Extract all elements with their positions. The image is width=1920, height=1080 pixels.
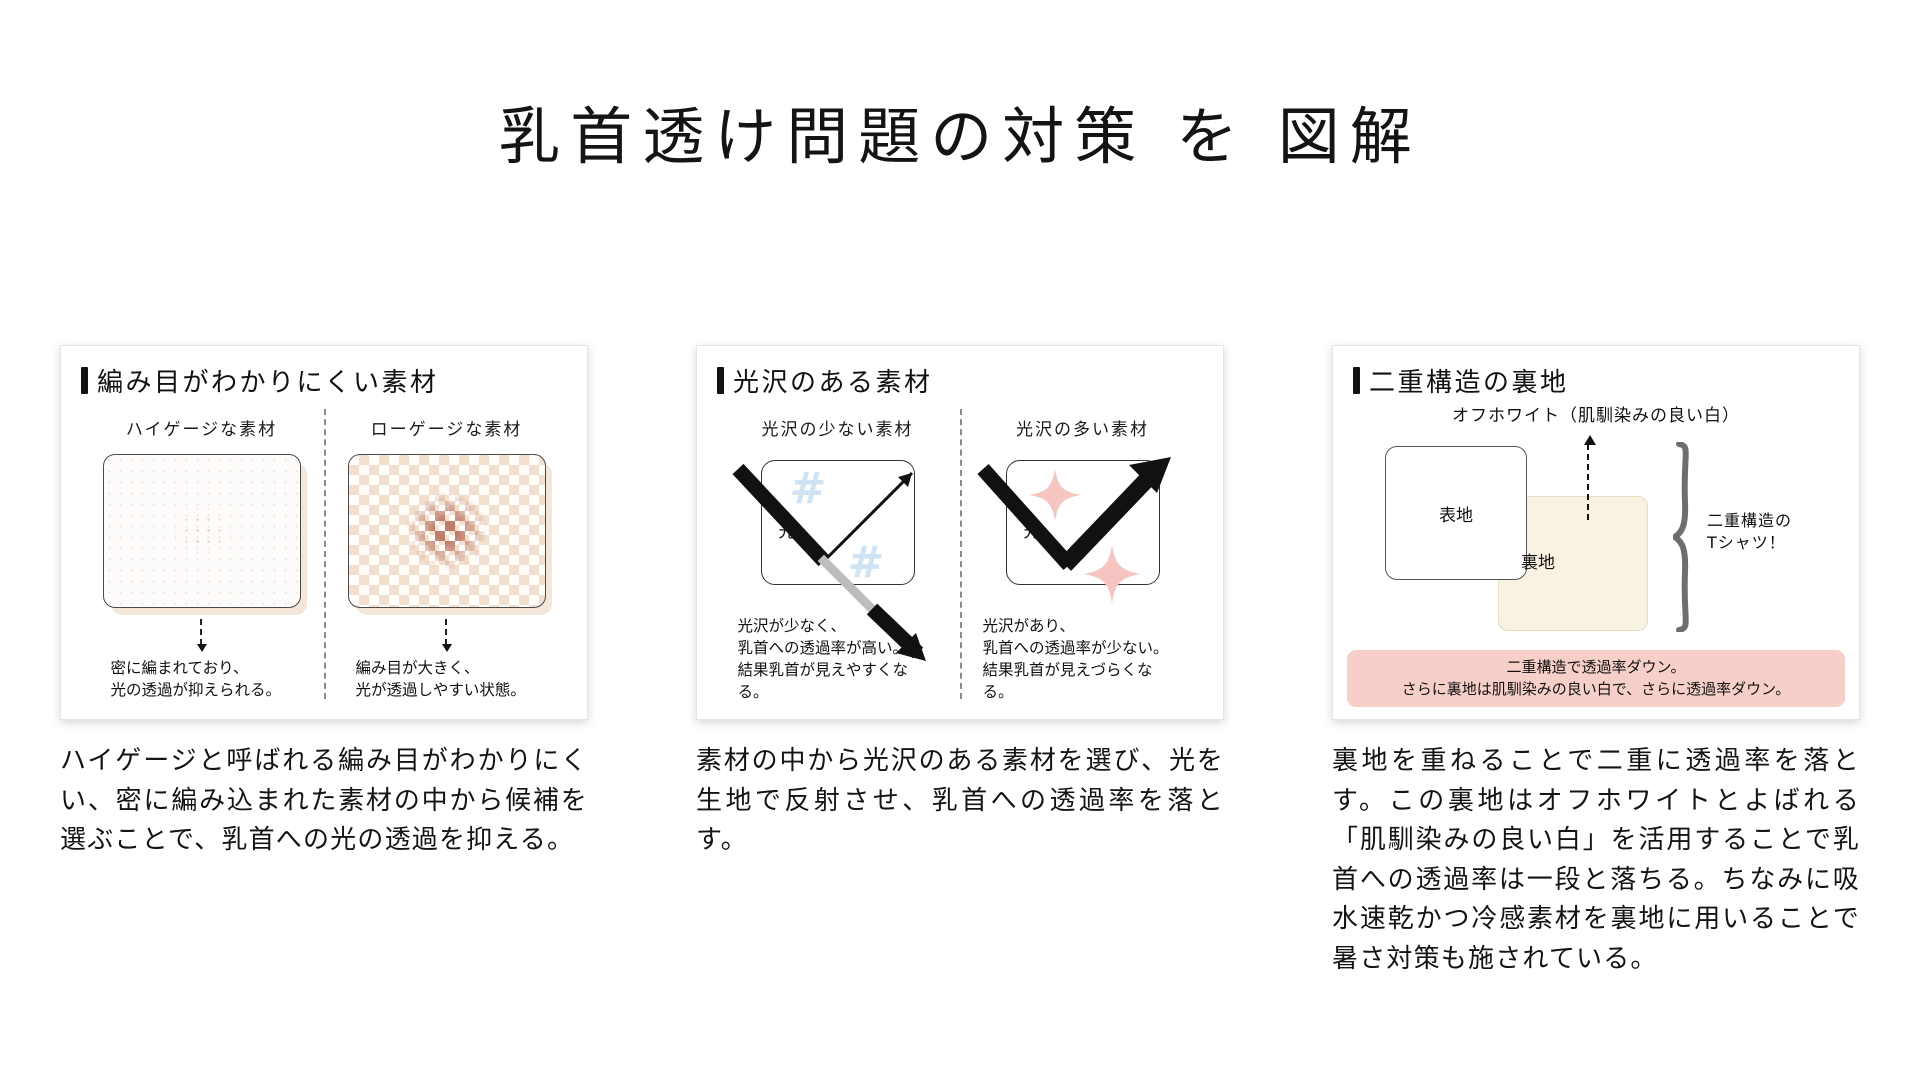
heading-bar-icon [81, 367, 88, 394]
panel-high-gauge: ハイゲージな素材 密に編まれており、 光の透過が抑えられる。 [79, 403, 324, 703]
card-knit: 編み目がわかりにくい素材 ハイゲージな素材 密に編まれており、 光の透過が抑えら… [60, 345, 588, 720]
low-gauge-fabric-swatch [348, 454, 546, 608]
card-double-layer-header: 二重構造の裏地 [1353, 362, 1841, 399]
inner-fabric-label: 裏地 [1521, 548, 1555, 573]
panel-low-gloss-title: 光沢の少ない素材 [762, 415, 914, 440]
low-gauge-swatch-wrap [348, 454, 546, 608]
nipple-show-through-blob [170, 503, 234, 559]
high-gauge-fabric-swatch [103, 454, 301, 608]
cards-container: 編み目がわかりにくい素材 ハイゲージな素材 密に編まれており、 光の透過が抑えら… [0, 345, 1920, 1045]
body-text-double-layer: 裏地を重ねることで二重に透過率を落とす。この裏地はオフホワイトとよばれる「肌馴染… [1332, 742, 1860, 979]
transmission-down-note: 二重構造で透過率ダウン。 さらに裏地は肌馴染みの良い白で、さらに透過率ダウン。 [1347, 650, 1845, 707]
light-ray-diagram-low-gloss [716, 439, 966, 665]
high-gloss-fabric-box: 光 [1006, 460, 1160, 585]
card-double-layer: 二重構造の裏地 オフホワイト（肌馴染みの良い白） 表地 裏地 二重構造の Tシャ… [1332, 345, 1860, 720]
card-double-layer-heading: 二重構造の裏地 [1369, 362, 1569, 399]
up-arrow-icon [1587, 444, 1589, 520]
body-text-gloss: 素材の中から光沢のある素材を選び、光を生地で反射させ、乳首への透過率を落とす。 [696, 742, 1224, 861]
light-ray-diagram-high-gloss [961, 439, 1211, 665]
card-gloss-header: 光沢のある素材 [717, 362, 1205, 399]
outer-fabric-box: 表地 [1385, 446, 1527, 580]
card-knit-heading: 編み目がわかりにくい素材 [97, 362, 438, 399]
card-gloss-split: 光沢の少ない素材 # # 光 [715, 403, 1205, 703]
column-gloss: 光沢のある素材 光沢の少ない素材 # # 光 [696, 345, 1224, 1045]
page-title: 乳首透け問題の対策 を 図解 [0, 86, 1920, 176]
card-knit-split: ハイゲージな素材 密に編まれており、 光の透過が抑えられる。 ローゲージな素材 [79, 403, 569, 703]
panel-low-gauge: ローゲージな素材 編み目が大きく、 光が透過しやすい状態。 [324, 403, 569, 703]
panel-low-gauge-caption: 編み目が大きく、 光が透過しやすい状態。 [356, 657, 538, 701]
double-layer-tshirt-label: 二重構造の Tシャツ！ [1707, 510, 1792, 555]
body-text-knit: ハイゲージと呼ばれる編み目がわかりにくい、密に編み込まれた素材の中から候補を選ぶ… [60, 742, 588, 861]
heading-bar-icon [717, 367, 724, 394]
card-gloss: 光沢のある素材 光沢の少ない素材 # # 光 [696, 345, 1224, 720]
low-gloss-fabric-box: # # 光 [761, 460, 915, 585]
card-gloss-heading: 光沢のある素材 [733, 362, 933, 399]
off-white-subtitle: オフホワイト（肌馴染みの良い白） [1351, 401, 1841, 426]
panel-high-gloss: 光沢の多い素材 光 [960, 403, 1205, 703]
curly-brace-icon [1673, 442, 1707, 632]
column-knit: 編み目がわかりにくい素材 ハイゲージな素材 密に編まれており、 光の透過が抑えら… [60, 345, 588, 1045]
panel-high-gloss-title: 光沢の多い素材 [1016, 415, 1149, 440]
layer-diagram: 表地 裏地 二重構造の Tシャツ！ [1351, 430, 1841, 680]
column-double-layer: 二重構造の裏地 オフホワイト（肌馴染みの良い白） 表地 裏地 二重構造の Tシャ… [1332, 345, 1860, 1045]
heading-bar-icon [1353, 367, 1360, 394]
panel-low-gauge-title: ローゲージな素材 [371, 415, 523, 440]
down-arrow-icon [445, 619, 449, 645]
down-arrow-icon [200, 619, 204, 645]
high-gauge-swatch-wrap [103, 454, 301, 608]
panel-high-gauge-caption: 密に編まれており、 光の透過が抑えられる。 [111, 657, 293, 701]
panel-low-gloss: 光沢の少ない素材 # # 光 [715, 403, 960, 703]
panel-high-gauge-title: ハイゲージな素材 [126, 415, 277, 440]
nipple-show-through-blob [405, 491, 489, 571]
card-knit-header: 編み目がわかりにくい素材 [81, 362, 569, 399]
